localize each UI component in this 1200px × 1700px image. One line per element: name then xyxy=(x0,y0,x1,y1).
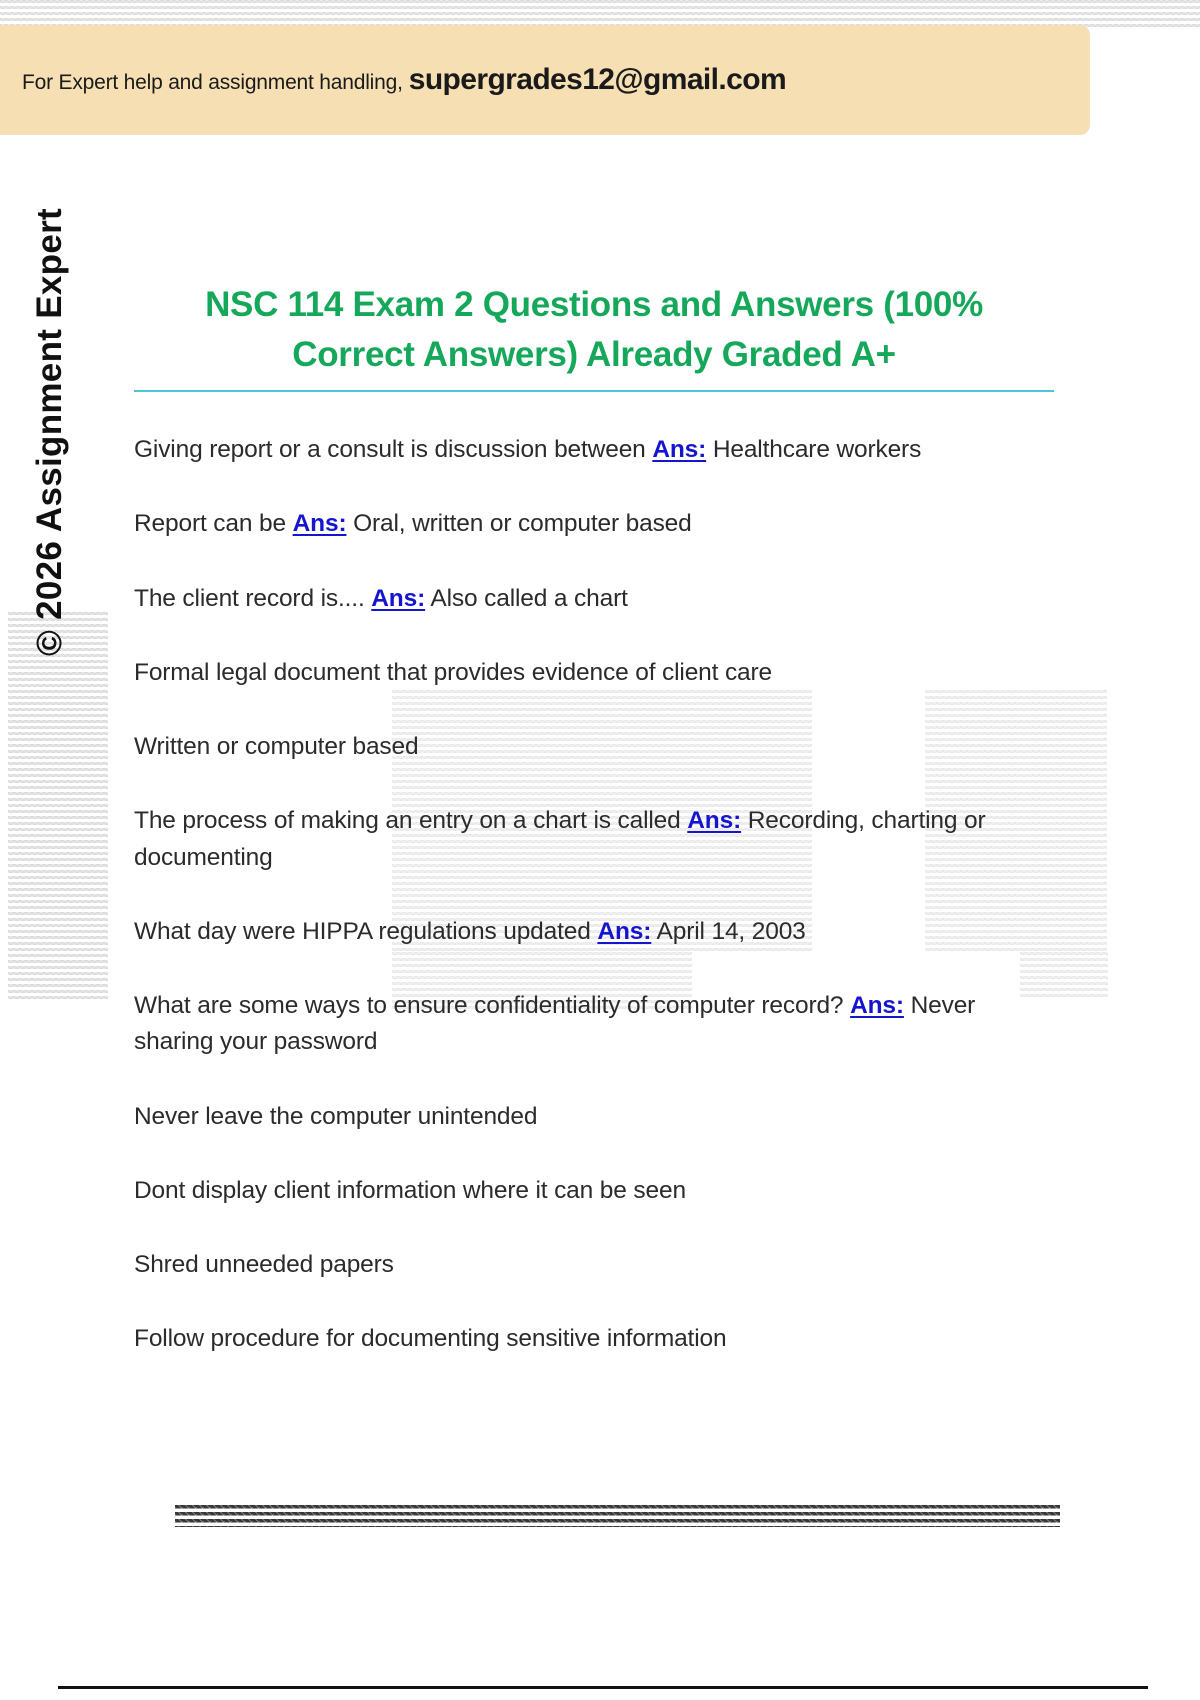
answer-tag: Ans: xyxy=(652,436,706,463)
qa-entry: Shred unneeded papers xyxy=(134,1247,1054,1283)
answer-tag: Ans: xyxy=(597,918,651,945)
qa-entry: Written or computer based xyxy=(134,729,1054,765)
qa-entry: Follow procedure for documenting sensiti… xyxy=(134,1321,1054,1357)
qa-entry: What are some ways to ensure confidentia… xyxy=(134,988,1054,1061)
qa-question-text: The client record is.... xyxy=(134,585,371,612)
qa-entry: Giving report or a consult is discussion… xyxy=(134,432,1054,468)
qa-question-text: Report can be xyxy=(134,510,293,537)
qa-question-text: The process of making an entry on a char… xyxy=(134,807,687,834)
qa-entry: Never leave the computer unintended xyxy=(134,1099,1054,1135)
promo-banner-text: For Expert help and assignment handling,… xyxy=(0,63,786,97)
copyright-watermark: © 2026 Assignment Expert xyxy=(0,140,100,660)
qa-answer-text: Healthcare workers xyxy=(706,436,921,463)
qa-answer-text: April 14, 2003 xyxy=(651,918,805,945)
qa-question-text: Written or computer based xyxy=(134,733,418,760)
qa-question-text: Formal legal document that provides evid… xyxy=(134,659,772,686)
qa-answer-text: Also called a chart xyxy=(425,585,628,612)
page-title: NSC 114 Exam 2 Questions and Answers (10… xyxy=(134,280,1054,390)
bottom-page-rule xyxy=(58,1686,1148,1689)
qa-entry: The client record is.... Ans: Also calle… xyxy=(134,581,1054,617)
qa-answer-text: Oral, written or computer based xyxy=(346,510,691,537)
title-underline-rule xyxy=(134,390,1054,392)
qa-entry: Report can be Ans: Oral, written or comp… xyxy=(134,506,1054,542)
qa-entry: Formal legal document that provides evid… xyxy=(134,655,1054,691)
promo-email-address: supergrades12@gmail.com xyxy=(409,63,786,96)
answer-tag: Ans: xyxy=(293,510,347,537)
qa-entry: Dont display client information where it… xyxy=(134,1173,1054,1209)
answer-tag: Ans: xyxy=(687,807,741,834)
qa-question-text: Giving report or a consult is discussion… xyxy=(134,436,652,463)
bottom-decorative-divider xyxy=(175,1505,1060,1527)
qa-question-text: Follow procedure for documenting sensiti… xyxy=(134,1325,726,1352)
qa-question-text: What are some ways to ensure confidentia… xyxy=(134,992,850,1019)
qa-entry: What day were HIPPA regulations updated … xyxy=(134,914,1054,950)
watermark-texture-band xyxy=(8,612,108,1002)
qa-question-text: Never leave the computer unintended xyxy=(134,1103,537,1130)
promo-lead-label: For Expert help and assignment handling, xyxy=(22,71,403,94)
qa-entry-list: Giving report or a consult is discussion… xyxy=(134,432,1054,1358)
qa-question-text: Dont display client information where it… xyxy=(134,1177,686,1204)
document-content: NSC 114 Exam 2 Questions and Answers (10… xyxy=(134,280,1054,1358)
qa-question-text: What day were HIPPA regulations updated xyxy=(134,918,597,945)
qa-entry: The process of making an entry on a char… xyxy=(134,803,1054,876)
answer-tag: Ans: xyxy=(371,585,425,612)
qa-question-text: Shred unneeded papers xyxy=(134,1251,394,1278)
promo-banner: For Expert help and assignment handling,… xyxy=(0,25,1090,135)
answer-tag: Ans: xyxy=(850,992,904,1019)
